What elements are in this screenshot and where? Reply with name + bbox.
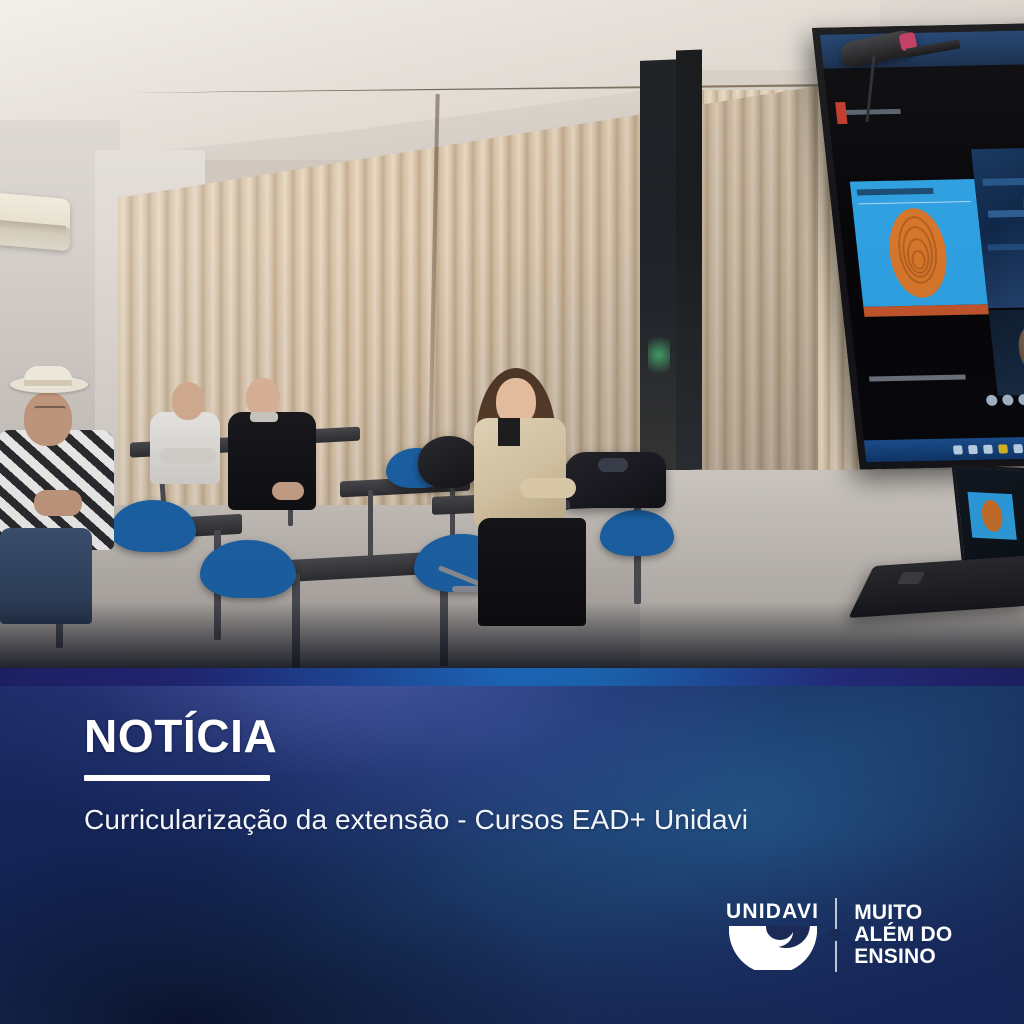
tagline-line-2: ALÉM DO — [854, 924, 952, 946]
unidavi-wordmark: UNIDAVI — [726, 901, 819, 922]
unidavi-tagline: MUITO ALÉM DO ENSINO — [854, 902, 952, 969]
tagline-line-3: ENSINO — [854, 946, 952, 968]
banner-kicker-underline — [84, 775, 270, 781]
news-card: NOTÍCIA Curricularização da extensão - C… — [0, 0, 1024, 1024]
person-beige-jacket-woman-torso — [474, 418, 566, 526]
unidavi-logo-primary: UNIDAVI — [726, 901, 819, 970]
banner-headline: Curricularização da extensão - Cursos EA… — [84, 803, 748, 837]
person-beige-jacket-woman-inner-top — [498, 418, 520, 446]
person-beige-jacket-woman-arms — [520, 478, 576, 498]
unidavi-logo-lockup: UNIDAVI — [726, 898, 952, 972]
banner-kicker: NOTÍCIA — [84, 713, 277, 759]
unidavi-u-arc-mark-icon — [729, 926, 817, 970]
person-beige-jacket-woman-legs — [478, 518, 586, 626]
tagline-line-1: MUITO — [854, 902, 952, 924]
logo-divider — [835, 898, 837, 972]
